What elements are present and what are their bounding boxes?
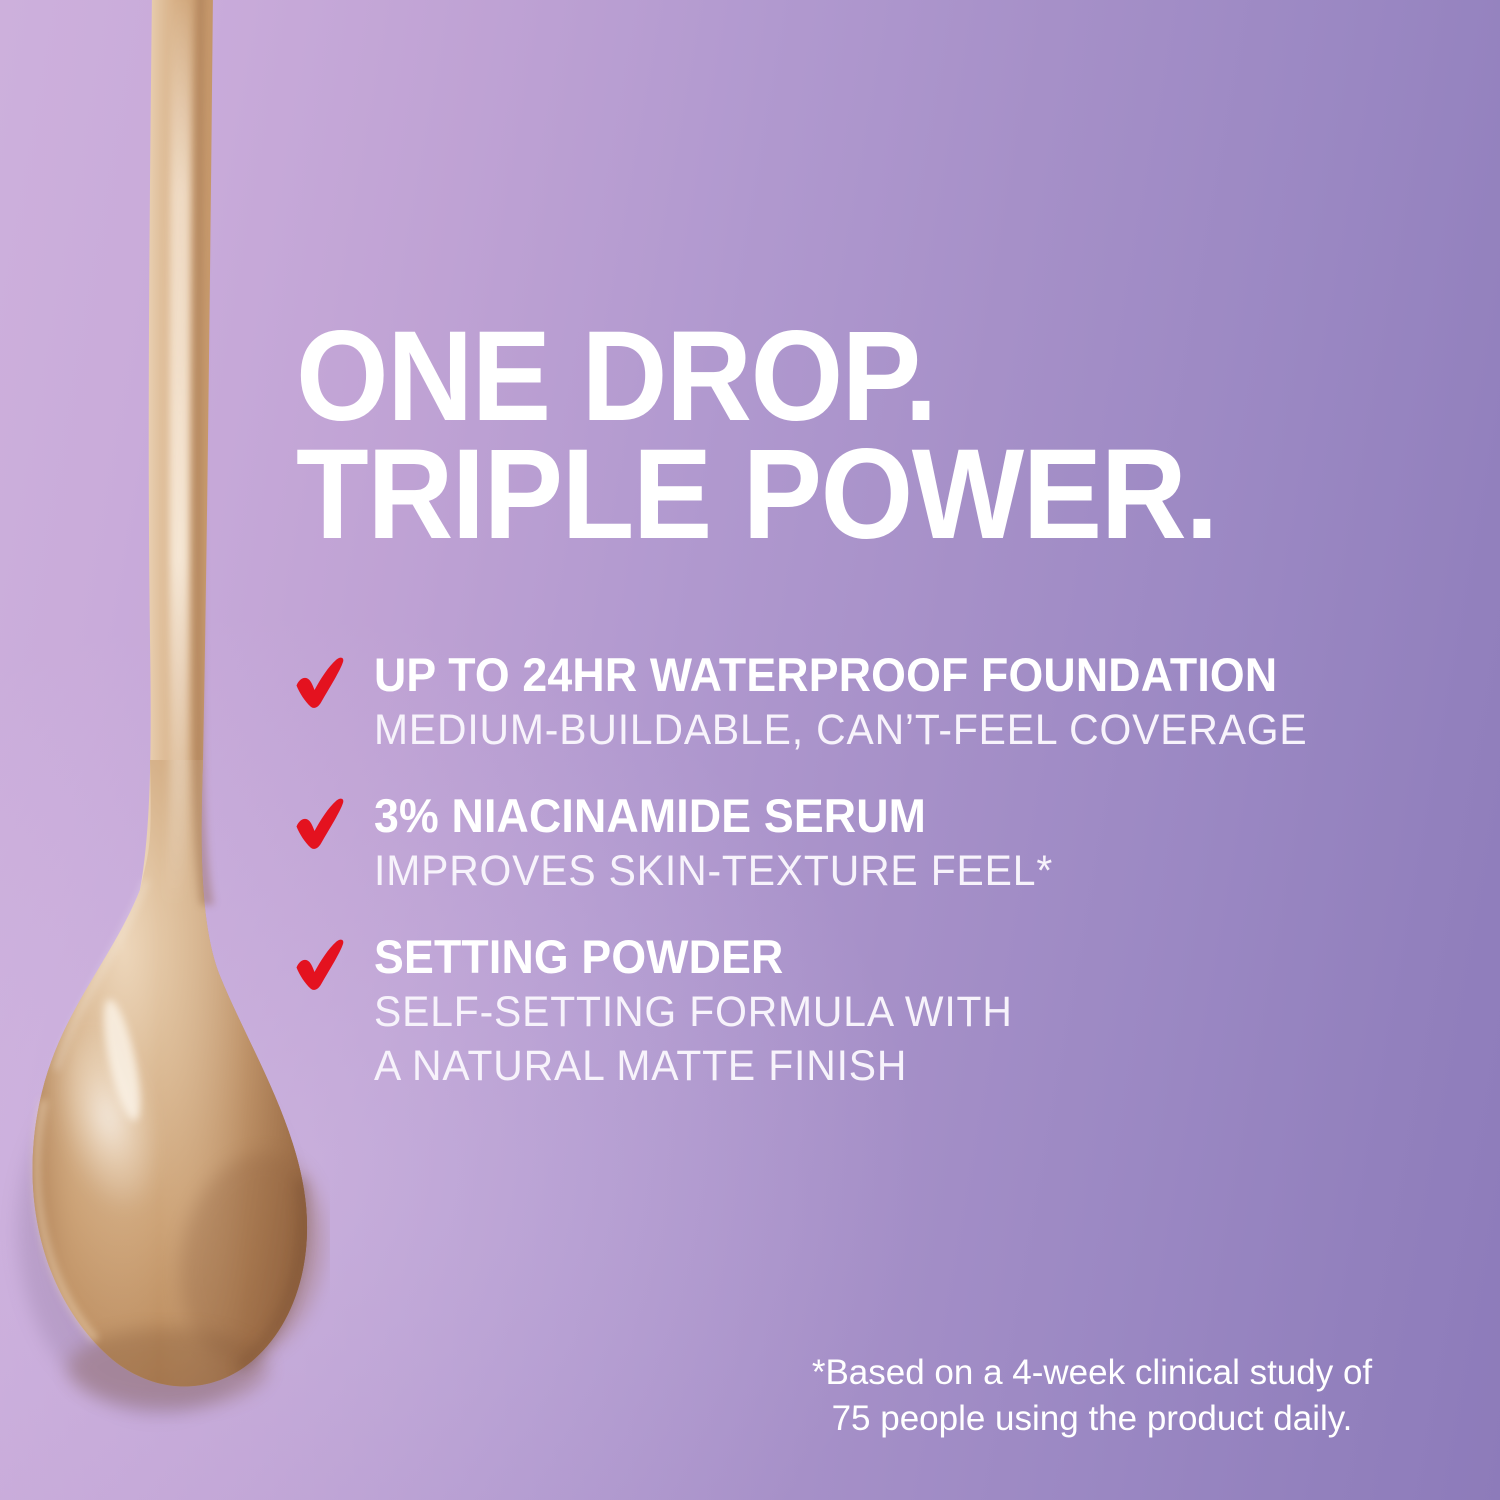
footnote-line-2: 75 people using the product daily. <box>742 1396 1442 1442</box>
benefit-subtitle-line-1: SELF-SETTING FORMULA WITH <box>374 987 1423 1037</box>
benefit-subtitle: IMPROVES SKIN-TEXTURE FEEL* <box>374 846 1423 896</box>
benefit-title: UP TO 24HR WATERPROOF FOUNDATION <box>374 648 1423 701</box>
product-claim-poster: ONE DROP. TRIPLE POWER. UP TO 24HR WATER… <box>0 0 1500 1500</box>
benefit-item-niacinamide-serum: 3% NIACINAMIDE SERUM IMPROVES SKIN-TEXTU… <box>288 789 1478 896</box>
benefit-item-setting-powder: SETTING POWDER SELF-SETTING FORMULA WITH… <box>288 930 1478 1091</box>
headline-line-1: ONE DROP. <box>296 318 1338 436</box>
footnote-line-1: *Based on a 4-week clinical study of <box>742 1350 1442 1396</box>
benefit-title: SETTING POWDER <box>374 930 1423 983</box>
footnote-disclaimer: *Based on a 4-week clinical study of 75 … <box>742 1350 1442 1442</box>
benefit-subtitle: MEDIUM-BUILDABLE, CAN’T-FEEL COVERAGE <box>374 705 1423 755</box>
benefit-list: UP TO 24HR WATERPROOF FOUNDATION MEDIUM-… <box>288 648 1478 1091</box>
benefit-title: 3% NIACINAMIDE SERUM <box>374 789 1423 842</box>
check-icon <box>290 795 352 857</box>
check-icon <box>290 654 352 716</box>
page-title: ONE DROP. TRIPLE POWER. <box>296 318 1416 554</box>
benefit-item-waterproof-foundation: UP TO 24HR WATERPROOF FOUNDATION MEDIUM-… <box>288 648 1478 755</box>
benefit-subtitle-line-2: A NATURAL MATTE FINISH <box>374 1041 1423 1091</box>
check-icon <box>290 936 352 998</box>
headline-line-2: TRIPLE POWER. <box>296 436 1338 554</box>
